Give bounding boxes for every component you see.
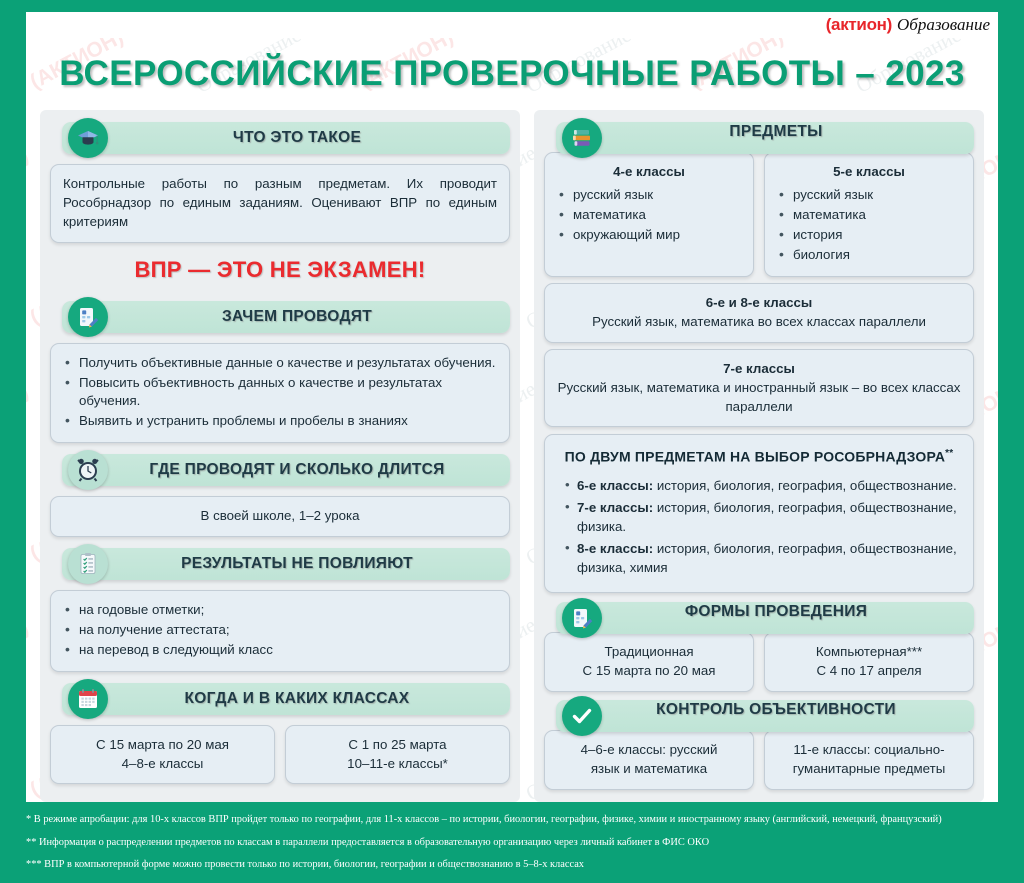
section-title: КОНТРОЛЬ ОБЪЕКТИВНОСТИ xyxy=(622,701,896,719)
footnote-2: ** Информация о распределении предметов … xyxy=(26,835,998,851)
section-title: ФОРМЫ ПРОВЕДЕНИЯ xyxy=(651,603,867,621)
why-body: Получить объективные данные о качестве и… xyxy=(50,343,510,444)
check-circle-icon xyxy=(562,696,602,736)
calendar-icon xyxy=(68,679,108,719)
list-item: на перевод в следующий класс xyxy=(63,641,497,660)
card-line2: 10–11-е классы* xyxy=(298,755,497,774)
books-stack-icon xyxy=(562,118,602,158)
section-title: ЗАЧЕМ ПРОВОДЯТ xyxy=(188,308,372,326)
forms-card: Компьютерная*** С 4 по 17 апреля xyxy=(764,632,974,692)
list-item: Повысить объективность данных о качестве… xyxy=(63,374,497,412)
choose-item: 8-е классы: история, биология, география… xyxy=(557,540,961,578)
right-column: ПРЕДМЕТЫ 4-е классы русский язык математ… xyxy=(534,110,984,802)
forms-cards: Традиционная С 15 марта по 20 мая Компью… xyxy=(544,632,974,692)
section-header-objectivity: КОНТРОЛЬ ОБЪЕКТИВНОСТИ xyxy=(544,698,974,722)
brand-suffix: Образование xyxy=(897,15,990,35)
card-line1: 11-е классы: социально- xyxy=(777,741,961,760)
choose-two-subjects-card: ПО ДВУМ ПРЕДМЕТАМ НА ВЫБОР РОСОБРНАДЗОРА… xyxy=(544,434,974,594)
subjects-grade-cards: 4-е классы русский язык математика окруж… xyxy=(544,152,974,276)
list-item: русский язык xyxy=(557,186,741,205)
left-column: ЧТО ЭТО ТАКОЕ Контрольные работы по разн… xyxy=(40,110,520,802)
card-line2: гуманитарные предметы xyxy=(777,760,961,779)
section-header-when: КОГДА И В КАКИХ КЛАССАХ xyxy=(50,681,510,717)
grade4-title: 4-е классы xyxy=(557,163,741,182)
card-line1: Традиционная xyxy=(557,643,741,662)
section-header-results: РЕЗУЛЬТАТЫ НЕ ПОВЛИЯЮТ xyxy=(50,546,510,582)
grade5-card: 5-е классы русский язык математика истор… xyxy=(764,152,974,276)
footnote-3: *** ВПР в компьютерной форме можно прове… xyxy=(26,857,998,873)
footnotes: * В режиме апробации: для 10-х классов В… xyxy=(26,812,998,880)
choose-title: ПО ДВУМ ПРЕДМЕТАМ НА ВЫБОР РОСОБРНАДЗОРА… xyxy=(557,447,961,468)
choose-item-label: 7-е классы: xyxy=(577,500,653,515)
choose-title-text: ПО ДВУМ ПРЕДМЕТАМ НА ВЫБОР РОСОБРНАДЗОРА xyxy=(565,448,945,464)
section-title: ЧТО ЭТО ТАКОЕ xyxy=(199,129,361,147)
graduation-cap-icon xyxy=(68,118,108,158)
section-header-forms: ФОРМЫ ПРОВЕДЕНИЯ xyxy=(544,600,974,624)
grade4-list: русский язык математика окружающий мир xyxy=(557,186,741,245)
card-line1: С 15 марта по 20 мая xyxy=(63,736,262,755)
section-title: ПРЕДМЕТЫ xyxy=(695,123,822,141)
card-line2: С 4 по 17 апреля xyxy=(777,662,961,681)
what-is-body: Контрольные работы по разным предметам. … xyxy=(50,164,510,243)
section-title: КОГДА И В КАКИХ КЛАССАХ xyxy=(151,690,410,708)
list-item: Выявить и устранить проблемы и пробелы в… xyxy=(63,412,497,431)
section-title: ГДЕ ПРОВОДЯТ И СКОЛЬКО ДЛИТСЯ xyxy=(115,461,444,479)
footnote-1: * В режиме апробации: для 10-х классов В… xyxy=(26,812,998,828)
grade5-list: русский язык математика история биология xyxy=(777,186,961,265)
card-line2: язык и математика xyxy=(557,760,741,779)
document-pencil-icon xyxy=(562,598,602,638)
list-item: математика xyxy=(557,206,741,225)
list-item: окружающий мир xyxy=(557,226,741,245)
when-cards: С 15 марта по 20 мая 4–8-е классы С 1 по… xyxy=(50,725,510,785)
forms-card: Традиционная С 15 марта по 20 мая xyxy=(544,632,754,692)
card-line2: 4–8-е классы xyxy=(63,755,262,774)
when-card: С 15 марта по 20 мая 4–8-е классы xyxy=(50,725,275,785)
alarm-clock-icon xyxy=(68,450,108,490)
list-item: биология xyxy=(777,246,961,265)
grade7-card: 7-е классы Русский язык, математика и ин… xyxy=(544,349,974,428)
card-line2: С 15 марта по 20 мая xyxy=(557,662,741,681)
list-item: математика xyxy=(777,206,961,225)
where-body: В своей школе, 1–2 урока xyxy=(50,496,510,537)
content-canvas: (АКТИОН)Образование(АКТИОН)Образование(А… xyxy=(26,38,998,802)
list-item: на годовые отметки; xyxy=(63,601,497,620)
grade68-title: 6-е и 8-е классы xyxy=(557,294,961,313)
objectivity-cards: 4–6-е классы: русский язык и математика … xyxy=(544,730,974,790)
grade5-title: 5-е классы xyxy=(777,163,961,182)
list-item: история xyxy=(777,226,961,245)
infographic-page: (актион) Образование (АКТИОН)Образование… xyxy=(0,0,1024,883)
brand-logo-strip: (актион) Образование xyxy=(26,12,998,38)
page-title: ВСЕРОССИЙСКИЕ ПРОВЕРОЧНЫЕ РАБОТЫ – 2023 xyxy=(26,54,998,94)
results-body: на годовые отметки; на получение аттеста… xyxy=(50,590,510,672)
section-title: РЕЗУЛЬТАТЫ НЕ ПОВЛИЯЮТ xyxy=(147,555,413,573)
card-line1: 4–6-е классы: русский xyxy=(557,741,741,760)
why-list: Получить объективные данные о качестве и… xyxy=(63,354,497,432)
list-item: Получить объективные данные о качестве и… xyxy=(63,354,497,373)
choose-title-sup: ** xyxy=(945,448,953,459)
card-line1: Компьютерная*** xyxy=(777,643,961,662)
two-column-layout: ЧТО ЭТО ТАКОЕ Контрольные работы по разн… xyxy=(26,110,998,802)
card-line1: С 1 по 25 марта xyxy=(298,736,497,755)
section-header-why: ЗАЧЕМ ПРОВОДЯТ xyxy=(50,299,510,335)
objectivity-card: 11-е классы: социально- гуманитарные пре… xyxy=(764,730,974,790)
when-card: С 1 по 25 марта 10–11-е классы* xyxy=(285,725,510,785)
document-pencil-icon xyxy=(68,297,108,337)
section-header-where: ГДЕ ПРОВОДЯТ И СКОЛЬКО ДЛИТСЯ xyxy=(50,452,510,488)
not-an-exam-banner: ВПР — ЭТО НЕ ЭКЗАМЕН! xyxy=(50,243,510,299)
grade7-title: 7-е классы xyxy=(557,360,961,379)
list-item: на получение аттестата; xyxy=(63,621,497,640)
checklist-clipboard-icon xyxy=(68,544,108,584)
results-list: на годовые отметки; на получение аттеста… xyxy=(63,601,497,660)
brand-name: (актион) xyxy=(826,15,892,35)
choose-item-label: 8-е классы: xyxy=(577,541,653,556)
grade68-body: Русский язык, математика во всех классах… xyxy=(557,313,961,332)
choose-item: 7-е классы: история, биология, география… xyxy=(557,499,961,537)
grade68-card: 6-е и 8-е классы Русский язык, математик… xyxy=(544,283,974,343)
choose-item: 6-е классы: история, биология, география… xyxy=(557,477,961,496)
grade4-card: 4-е классы русский язык математика окруж… xyxy=(544,152,754,276)
objectivity-card: 4–6-е классы: русский язык и математика xyxy=(544,730,754,790)
choose-item-label: 6-е классы: xyxy=(577,478,653,493)
section-header-subjects: ПРЕДМЕТЫ xyxy=(544,120,974,144)
choose-item-text: история, биология, география, обществозн… xyxy=(653,478,957,493)
list-item: русский язык xyxy=(777,186,961,205)
section-header-what-is: ЧТО ЭТО ТАКОЕ xyxy=(50,120,510,156)
grade7-body: Русский язык, математика и иностранный я… xyxy=(557,379,961,417)
